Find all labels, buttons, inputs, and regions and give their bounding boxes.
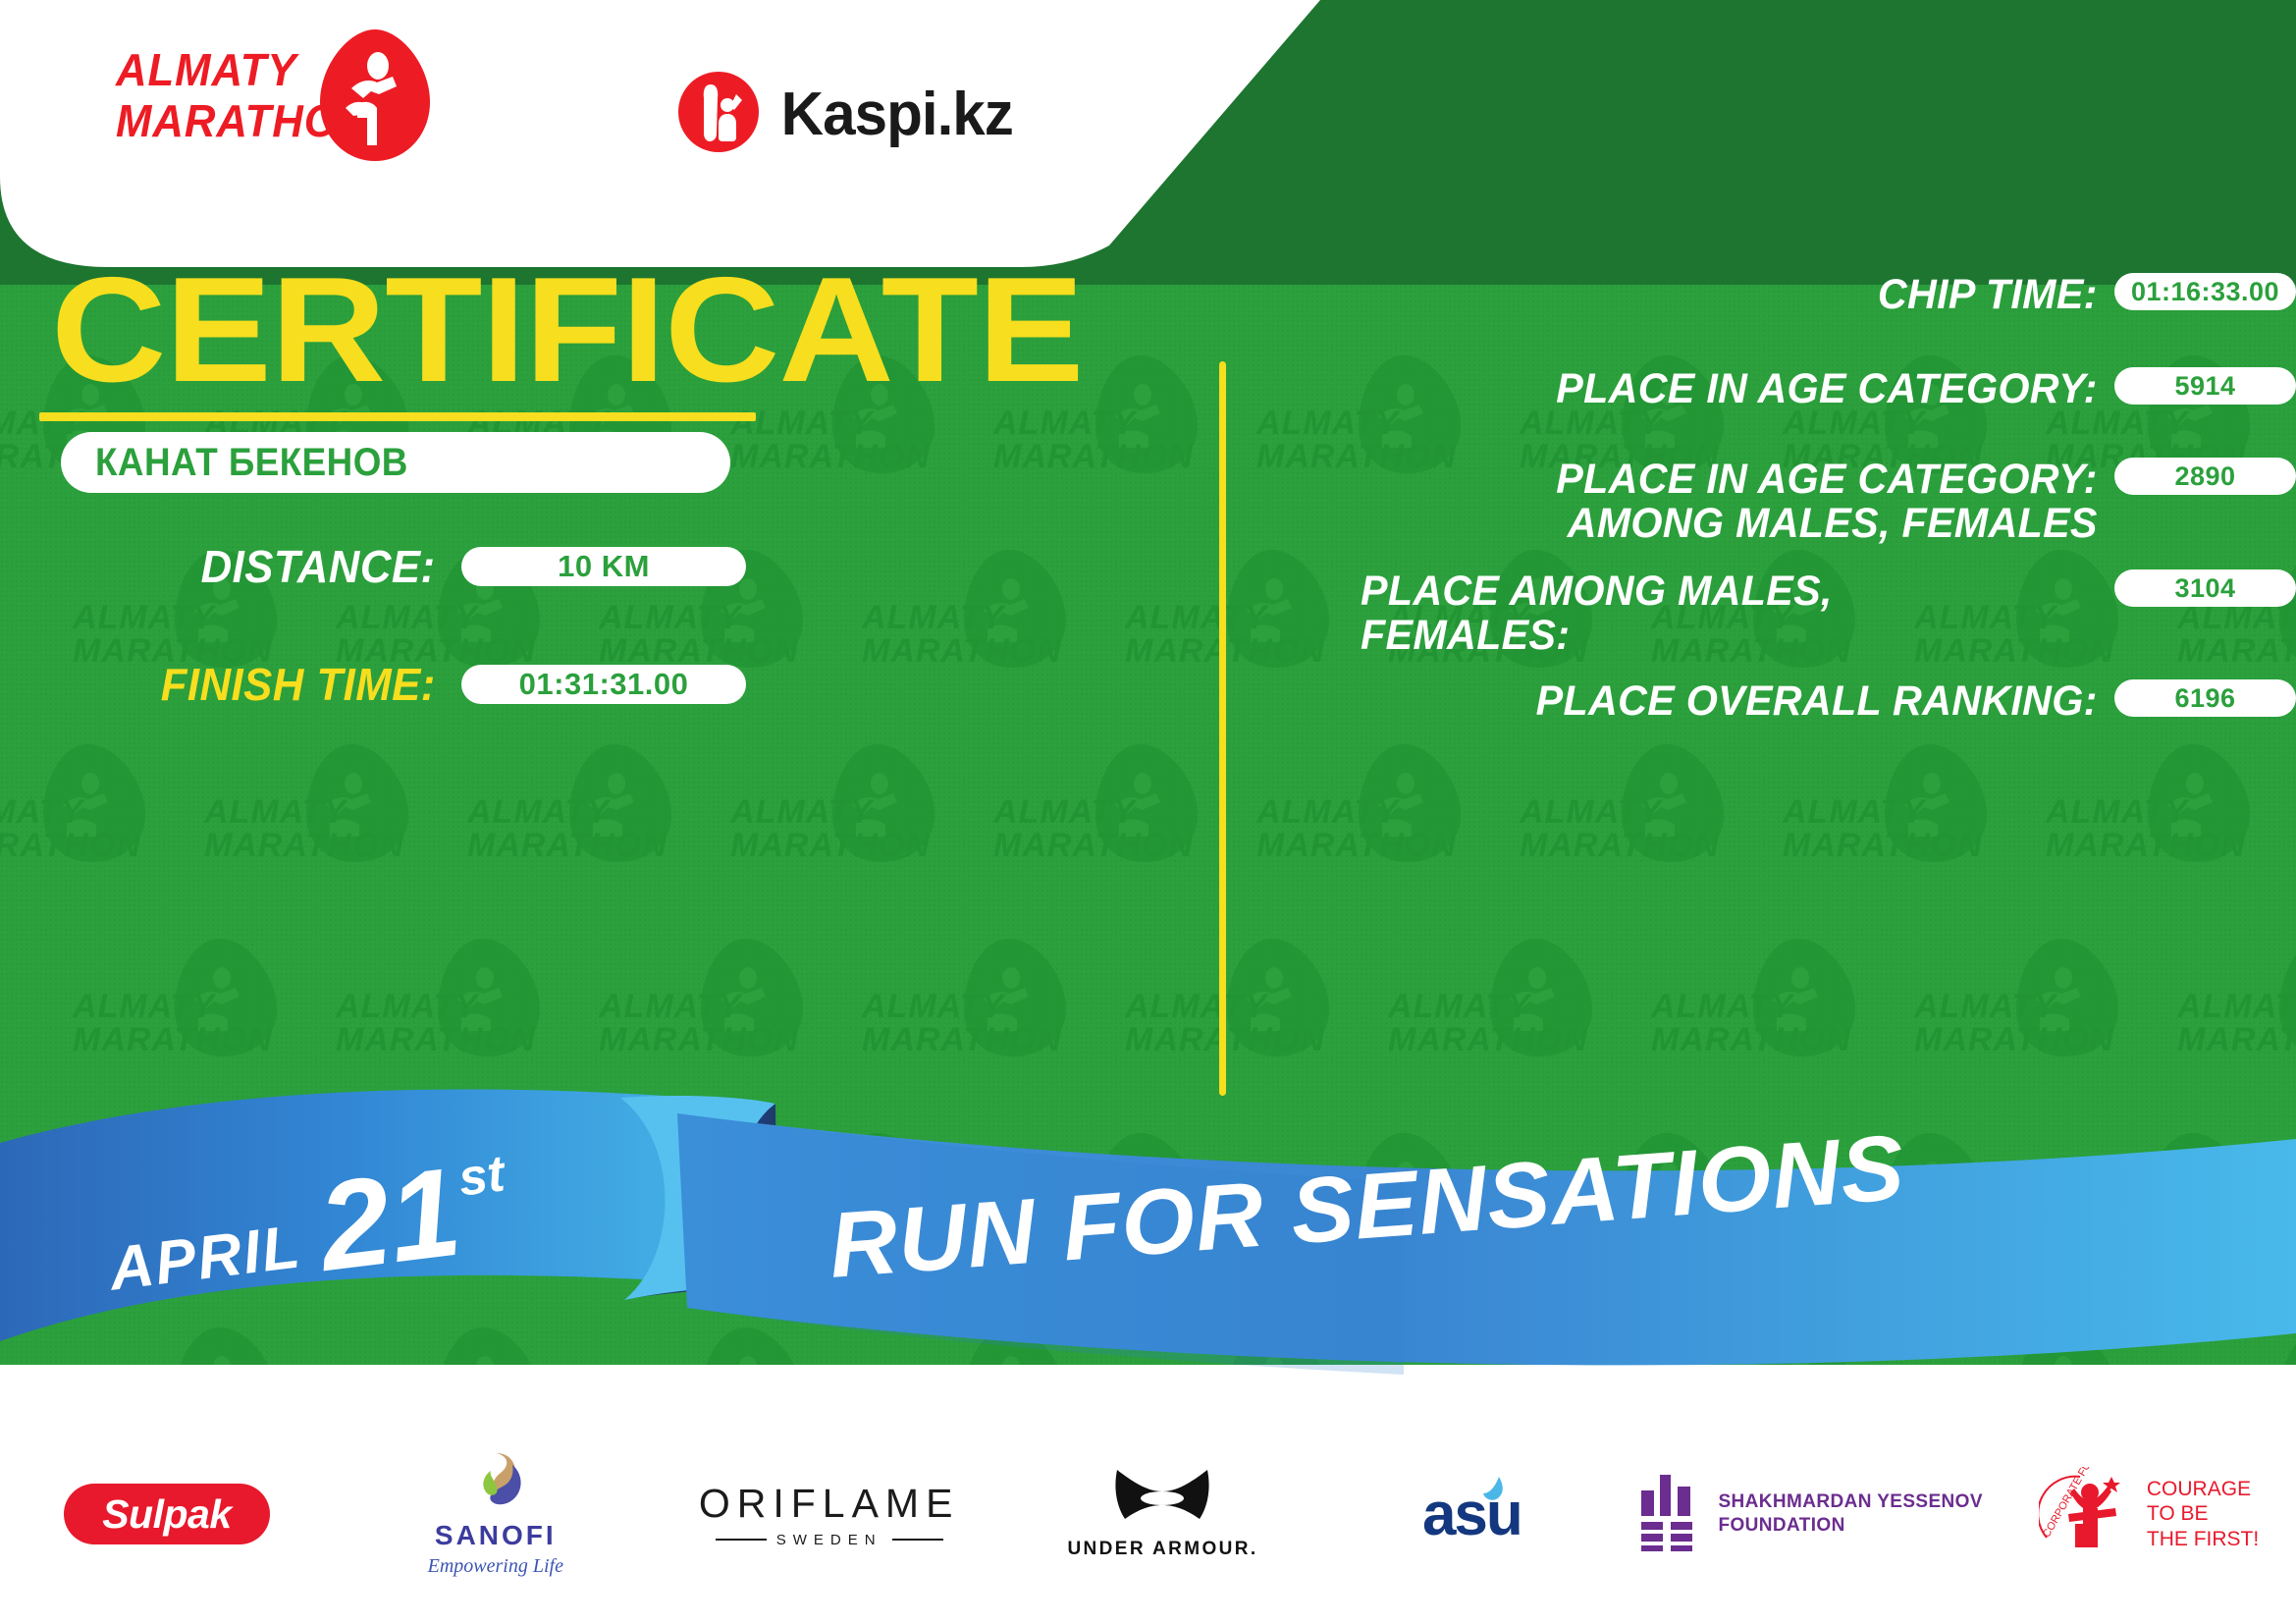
distance-value: 10 KM <box>461 547 746 586</box>
sponsor-sulpak: Sulpak <box>0 1484 334 1544</box>
finish-time-value: 01:31:31.00 <box>461 665 746 704</box>
oriflame-sub-label: SWEDEN <box>776 1532 882 1548</box>
almaty-marathon-runner-icon <box>318 27 432 168</box>
chip-time-value: 01:16:33.00 <box>2114 273 2296 310</box>
kaspi-logo: Kaspi.kz <box>677 71 1017 158</box>
place-overall-ranking-label: PLACE OVERALL RANKING: <box>1301 679 2114 724</box>
kaspi-people-icon <box>677 71 760 158</box>
finish-time-label: FINISH TIME: <box>161 658 436 711</box>
oriflame-label: ORIFLAME <box>699 1481 960 1527</box>
almaty-marathon-logo: ALMATY MARATHON <box>116 45 384 146</box>
sponsor-sanofi: SANOFI Empowering Life <box>334 1451 658 1578</box>
sanofi-logo-icon <box>457 1451 534 1517</box>
sponsor-shakhmardan-yessenov-foundation: SHAKHMARDAN YESSENOV FOUNDATION <box>1619 1473 2002 1556</box>
sulpak-logo-icon: Sulpak <box>64 1484 270 1544</box>
kaspi-wordmark: Kaspi.kz <box>781 80 1013 149</box>
place-age-category-label: PLACE IN AGE CATEGORY: <box>1301 367 2114 411</box>
under-armour-label: UNDER ARMOUR. <box>1067 1539 1257 1560</box>
title-underline <box>39 412 756 421</box>
distance-row: DISTANCE: 10 KM <box>0 540 746 593</box>
asu-droplet-icon <box>1481 1476 1507 1510</box>
oriflame-rule-right <box>892 1539 943 1541</box>
page-title: CERTIFICATE <box>51 255 1083 405</box>
place-age-category-gender-label: PLACE IN AGE CATEGORY: AMONG MALES, FEMA… <box>1301 458 2114 546</box>
participant-name: КАНАТ БЕКЕНОВ <box>95 441 408 485</box>
place-age-category-gender-row: PLACE IN AGE CATEGORY: AMONG MALES, FEMA… <box>1266 458 2296 546</box>
chip-time-row: CHIP TIME: 01:16:33.00 <box>1266 273 2296 317</box>
shakhmardan-yessenov-foundation-icon <box>1637 1473 1702 1556</box>
place-overall-ranking-row: PLACE OVERALL RANKING: 6196 <box>1266 679 2296 724</box>
participant-name-field: КАНАТ БЕКЕНОВ <box>61 432 730 493</box>
sulpak-label: Sulpak <box>102 1491 231 1538</box>
vertical-divider <box>1219 361 1226 1096</box>
place-age-category-value: 5914 <box>2114 367 2296 405</box>
shakhmardan-yessenov-foundation-label: SHAKHMARDAN YESSENOV FOUNDATION <box>1718 1490 1982 1538</box>
event-day-ordinal: st <box>455 1144 507 1208</box>
corporate-fund-icon: CORPORATE FUND <box>2039 1467 2137 1562</box>
chip-time-label: CHIP TIME: <box>1301 273 2114 317</box>
sponsor-under-armour: UNDER ARMOUR. <box>1001 1468 1325 1560</box>
place-among-gender-row: PLACE AMONG MALES, FEMALES: 3104 <box>1266 569 2296 658</box>
sponsor-oriflame: ORIFLAME SWEDEN <box>658 1481 1001 1548</box>
sponsor-asu: asu <box>1324 1480 1619 1549</box>
under-armour-logo-icon <box>1109 1468 1215 1534</box>
corporate-fund-slogan: COURAGE TO BE THE FIRST! <box>2147 1477 2259 1552</box>
distance-label: DISTANCE: <box>201 540 436 593</box>
place-age-category-row: PLACE IN AGE CATEGORY: 5914 <box>1266 367 2296 411</box>
place-among-gender-value: 3104 <box>2114 569 2296 607</box>
place-among-gender-label: PLACE AMONG MALES, FEMALES: <box>1266 569 2080 658</box>
event-day: 21 <box>314 1160 466 1282</box>
oriflame-sub-row: SWEDEN <box>716 1532 943 1548</box>
place-age-category-gender-value: 2890 <box>2114 458 2296 495</box>
sponsor-corporate-fund: CORPORATE FUND COURAGE TO BE THE FIRST! <box>2002 1467 2296 1562</box>
place-overall-ranking-value: 6196 <box>2114 679 2296 717</box>
finish-time-row: FINISH TIME: 01:31:31.00 <box>0 658 746 711</box>
sanofi-label: SANOFI <box>435 1520 557 1551</box>
sanofi-tagline: Empowering Life <box>428 1555 563 1578</box>
sponsors-bar: Sulpak SANOFI Empowering Life ORIFLAME <box>0 1404 2296 1624</box>
certificate-page: ALMATYMARATHONALMATYMARATHONALMATYMARATH… <box>0 0 2296 1624</box>
oriflame-rule-left <box>716 1539 767 1541</box>
